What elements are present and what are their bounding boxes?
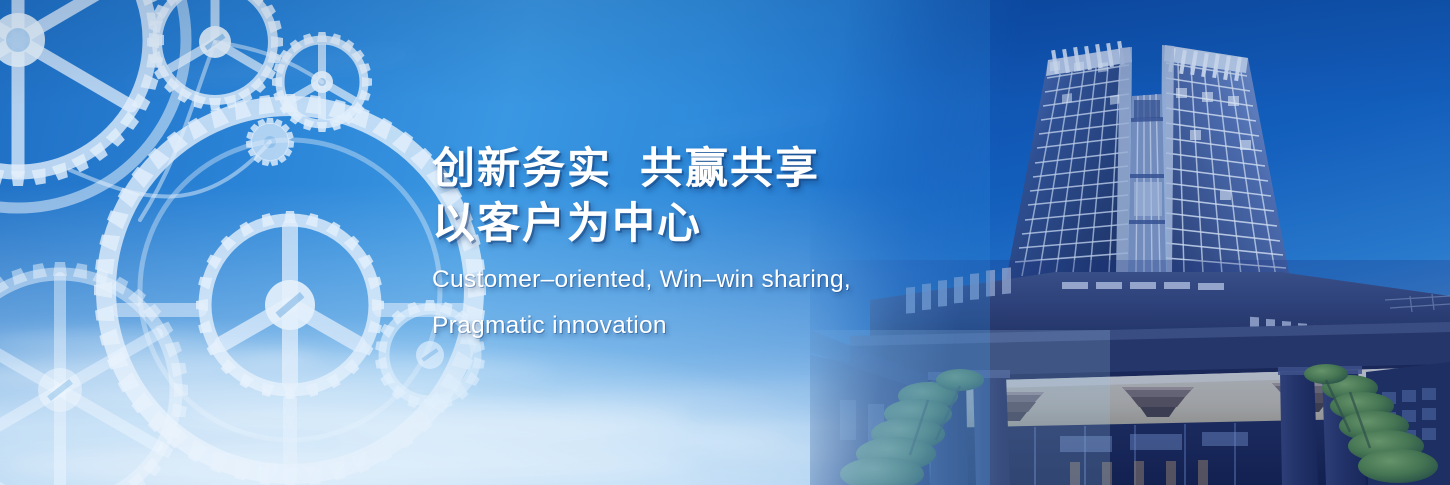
cloud-wisp bbox=[560, 381, 840, 409]
gear-lower-spoked bbox=[0, 262, 188, 485]
headline-line-1: 创新务实共赢共享 bbox=[432, 142, 851, 197]
banner-copy: 创新务实共赢共享 以客户为中心 Customer–oriented, Win–w… bbox=[432, 142, 851, 344]
gear-medium-top bbox=[147, 0, 283, 110]
subtitle-line-1: Customer–oriented, Win–win sharing, bbox=[432, 261, 851, 298]
gear-cluster bbox=[0, 0, 500, 485]
headline-phrase-2: 共赢共享 bbox=[640, 145, 820, 193]
headline-line-2: 以客户为中心 bbox=[432, 197, 851, 252]
headline-phrase-1: 创新务实 bbox=[432, 145, 612, 193]
office-tower-photo bbox=[810, 0, 1450, 485]
subtitle-line-2: Pragmatic innovation bbox=[432, 307, 851, 344]
hero-banner: 创新务实共赢共享 以客户为中心 Customer–oriented, Win–w… bbox=[0, 0, 1450, 485]
